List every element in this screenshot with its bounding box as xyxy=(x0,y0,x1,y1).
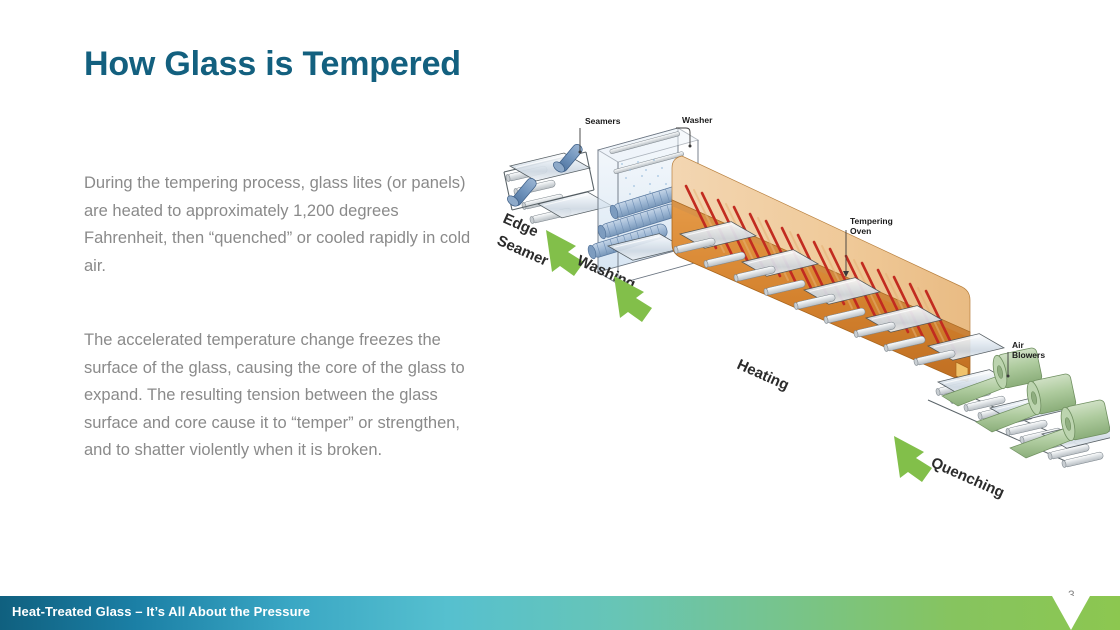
flow-arrow xyxy=(894,436,932,482)
callout-seamers-label: Seamers xyxy=(585,116,621,126)
tempering-oven xyxy=(672,156,1004,382)
stage-label-quenching: Quenching xyxy=(928,454,1006,501)
callout-tempering-line1: Tempering xyxy=(850,216,893,226)
body-paragraph-1: During the tempering process, glass lite… xyxy=(84,170,484,280)
callout-blowers-line2: Blowers xyxy=(1012,350,1045,360)
slide-canvas: How Glass is Tempered During the temperi… xyxy=(0,0,1120,630)
body-paragraph-2: The accelerated temperature change freez… xyxy=(84,327,484,465)
stage-label-heating: Heating xyxy=(734,356,791,394)
glass-tempering-process-diagram: Seamers xyxy=(490,100,1110,520)
footer-title: Heat-Treated Glass – It’s All About the … xyxy=(12,604,310,619)
footer-bar: Heat-Treated Glass – It’s All About the … xyxy=(0,596,1120,630)
footer-notch xyxy=(1052,596,1090,630)
callout-tempering-line2: Oven xyxy=(850,226,871,236)
page-title: How Glass is Tempered xyxy=(84,42,484,86)
callout-washer-label: Washer xyxy=(682,115,713,125)
callout-blowers-line1: Air xyxy=(1012,340,1025,350)
stage-label-edge-seamer-2: Seamer xyxy=(494,232,551,270)
edge-seamer-station xyxy=(504,143,612,224)
